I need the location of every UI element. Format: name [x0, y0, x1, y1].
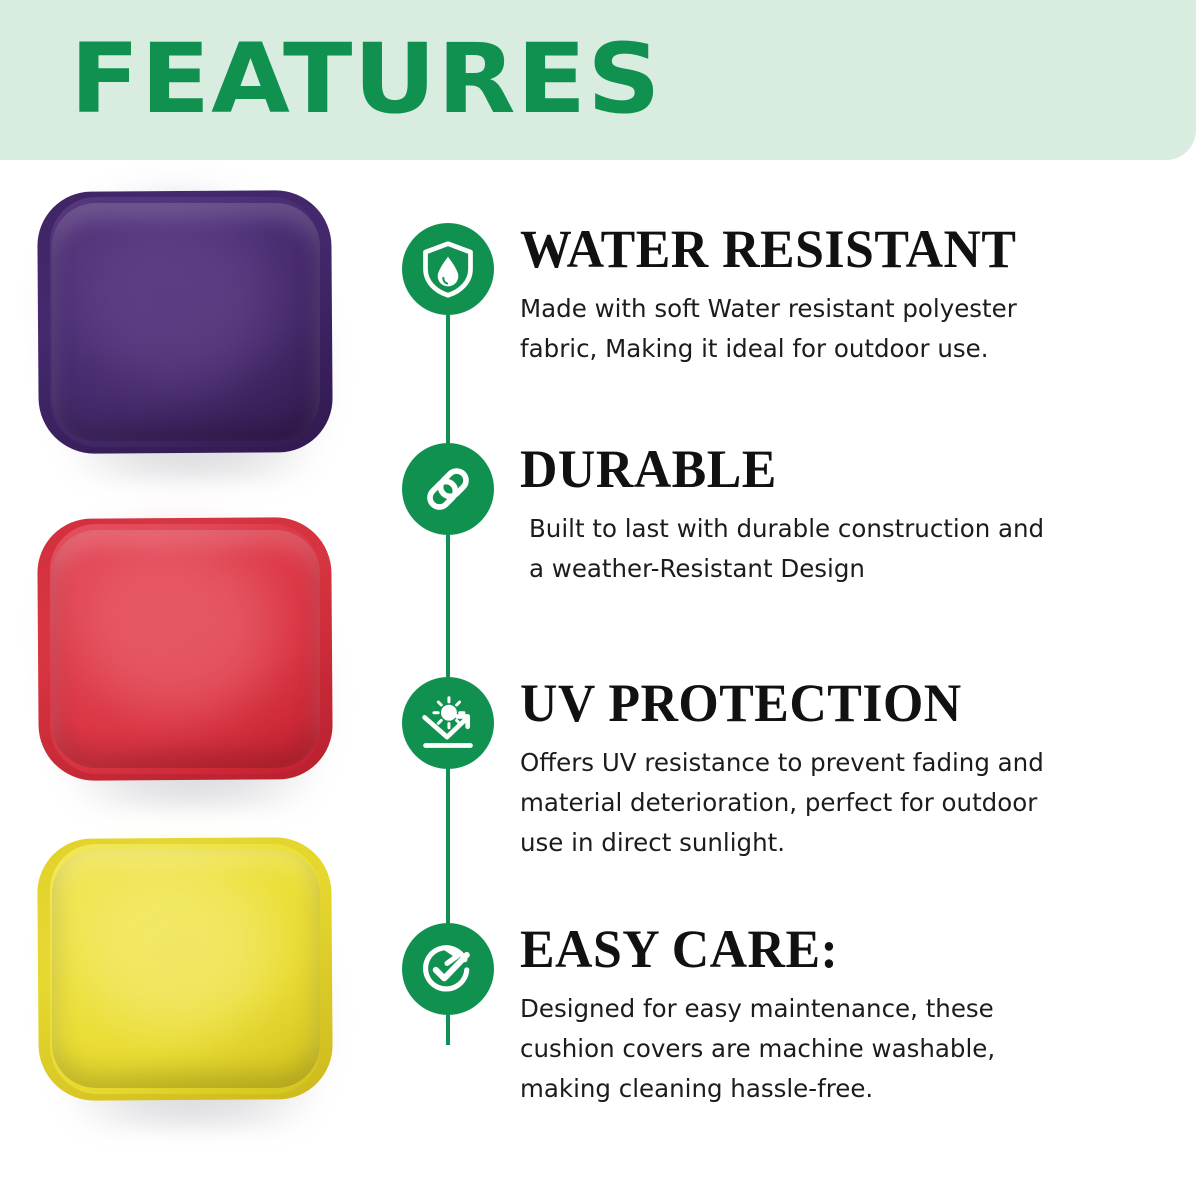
cushion-purple [36, 183, 336, 461]
features-infographic: { "header": { "title": "FEATURES", "band… [0, 0, 1200, 1200]
page-title: FEATURES [70, 24, 662, 134]
cushion-yellow [36, 830, 336, 1108]
refresh-check-icon [402, 923, 494, 1015]
cushion-seam [52, 850, 320, 1088]
feature-title: EASY CARE: [520, 919, 1158, 979]
feature-text: EASY CARE: Designed for easy maintenance… [520, 919, 1185, 1109]
feature-title: DURABLE [520, 439, 1158, 499]
feature-title: WATER RESISTANT [520, 219, 1158, 279]
sun-uv-reflect-icon [402, 677, 494, 769]
feature-description: Built to last with durable construction … [520, 509, 1185, 589]
feature-title: UV PROTECTION [520, 673, 1158, 733]
feature-text: DURABLE Built to last with durable const… [520, 439, 1185, 589]
product-image-yellow-cushion [36, 830, 346, 1120]
feature-list: WATER RESISTANT Made with soft Water res… [390, 165, 1200, 1200]
feature-text: WATER RESISTANT Made with soft Water res… [520, 219, 1185, 369]
chain-link-icon [402, 443, 494, 535]
feature-text: UV PROTECTION Offers UV resistance to pr… [520, 673, 1185, 863]
product-image-column [0, 165, 390, 1165]
feature-description: Made with soft Water resistant polyester… [520, 289, 1185, 369]
feature-description: Designed for easy maintenance, these cus… [520, 989, 1185, 1109]
product-image-red-cushion [36, 510, 346, 800]
shield-water-drop-icon [402, 223, 494, 315]
cushion-seam [52, 203, 320, 441]
cushion-seam [52, 530, 320, 768]
cushion-red [36, 510, 336, 788]
product-image-purple-cushion [36, 183, 346, 473]
feature-description: Offers UV resistance to prevent fading a… [520, 743, 1185, 863]
header-band: FEATURES [0, 0, 1196, 160]
